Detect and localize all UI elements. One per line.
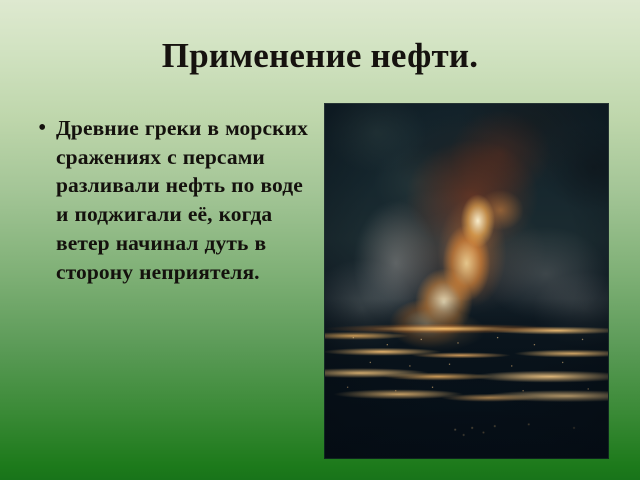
slide-body-text: • Древние греки в морских сражениях с пе… bbox=[34, 114, 310, 286]
slide-image-frame bbox=[325, 104, 608, 458]
bullet-point-icon: • bbox=[34, 114, 56, 142]
vignette-layer bbox=[325, 104, 608, 458]
bullet-item-label: Древние греки в морских сражениях с перс… bbox=[56, 114, 310, 286]
slide-title: Применение нефти. bbox=[0, 36, 640, 76]
presentation-slide: Применение нефти. • Древние греки в морс… bbox=[0, 0, 640, 480]
bullet-list-item: • Древние греки в морских сражениях с пе… bbox=[34, 114, 310, 286]
burning-oil-fire-photo bbox=[325, 104, 608, 458]
